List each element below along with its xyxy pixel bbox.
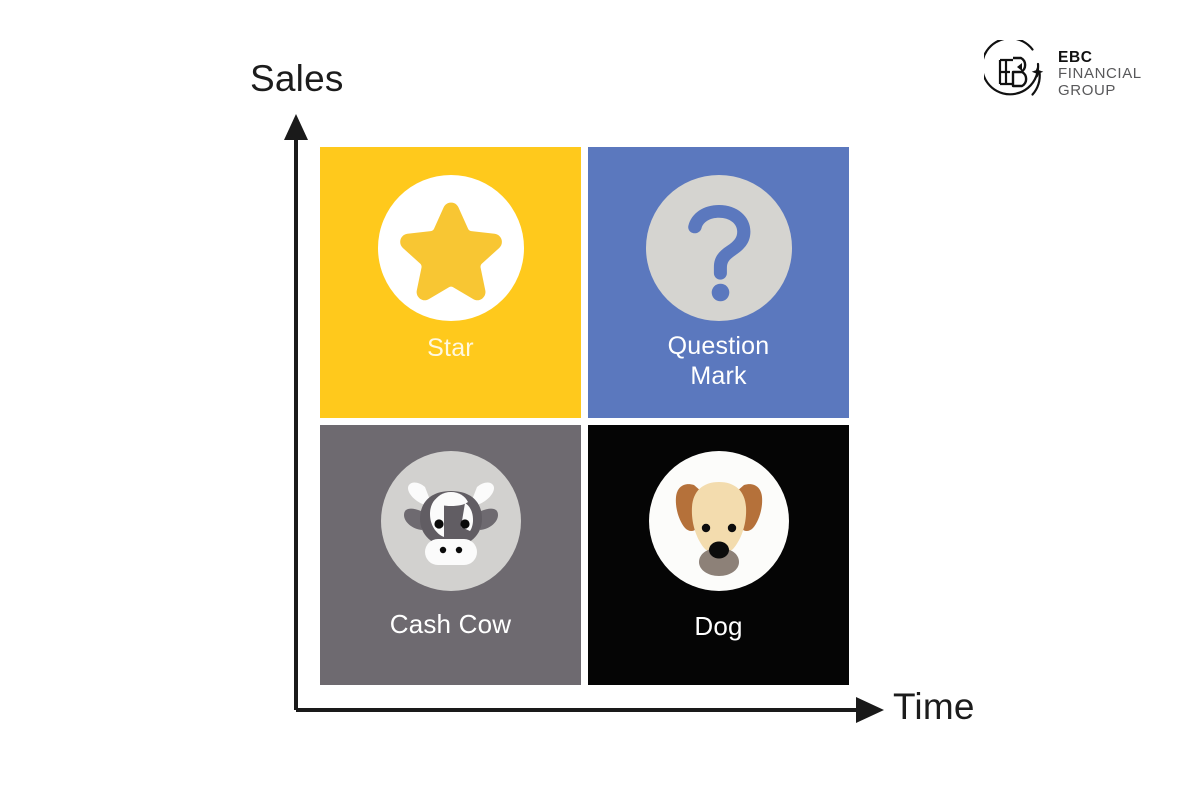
logo-text-block: EBC FINANCIAL GROUP — [1058, 49, 1142, 100]
quadrant-dog[interactable]: Dog — [588, 425, 849, 685]
logo-sub-line1: FINANCIAL — [1058, 66, 1142, 83]
brand-logo: EBC FINANCIAL GROUP — [984, 40, 1142, 109]
quadrant-label-question-mark: Question Mark — [668, 331, 770, 391]
star-icon — [378, 175, 524, 321]
quadrant-label-question-line2: Mark — [668, 361, 770, 391]
bcg-matrix: Star Question Mark — [320, 147, 850, 685]
quadrant-star[interactable]: Star — [320, 147, 581, 418]
dog-icon — [649, 451, 789, 591]
quadrant-question-mark[interactable]: Question Mark — [588, 147, 849, 418]
x-axis-label: Time — [893, 686, 975, 728]
logo-sub-line2: GROUP — [1058, 83, 1142, 100]
quadrant-label-dog: Dog — [694, 611, 742, 641]
question-mark-icon — [646, 175, 792, 321]
y-axis-label: Sales — [250, 58, 344, 100]
quadrant-label-star: Star — [427, 333, 474, 363]
y-axis — [284, 114, 308, 710]
quadrant-label-cash-cow: Cash Cow — [390, 609, 512, 639]
cow-icon — [381, 451, 521, 591]
quadrant-label-question-line1: Question — [668, 331, 770, 361]
ebc-monogram-icon — [984, 40, 1048, 109]
quadrant-cash-cow[interactable]: Cash Cow — [320, 425, 581, 685]
logo-brand-name: EBC — [1058, 49, 1142, 66]
x-axis — [296, 697, 884, 723]
